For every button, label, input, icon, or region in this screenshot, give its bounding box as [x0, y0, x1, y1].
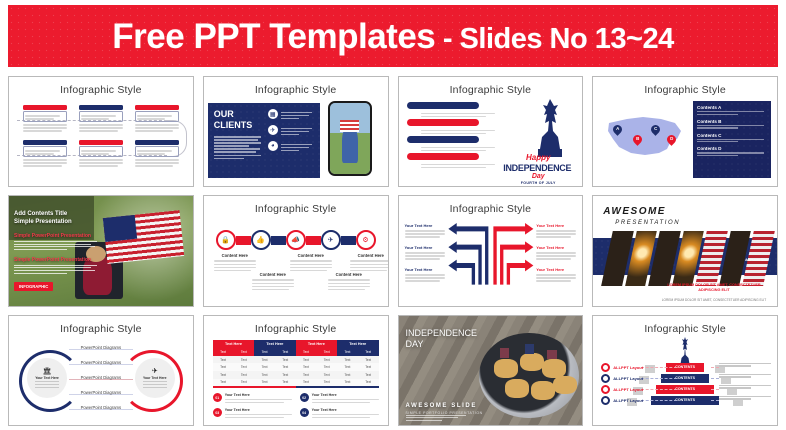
statue-of-liberty-icon — [530, 97, 570, 159]
page-title-main: Free PPT Templates — [112, 17, 435, 56]
legend-ring-icon — [601, 396, 610, 405]
megaphone-icon[interactable]: 📣 — [286, 230, 306, 250]
table-row: TextText TextText TextText TextText — [213, 363, 379, 371]
page-title: Free PPT Templates - Slides No 13~24 — [112, 19, 673, 54]
legend-badge: 01 — [213, 393, 222, 402]
table-row: TextText TextText TextText TextText — [213, 371, 379, 379]
slide-title: Infographic Style — [204, 323, 388, 335]
overlay-heading-line2: Simple Presentation — [14, 218, 100, 226]
independence-text: INDEPENDENCE — [496, 163, 578, 173]
template-gallery-page: Free PPT Templates - Slides No 13~24 Inf… — [0, 0, 786, 430]
photo-slider — [505, 379, 529, 398]
fourth-of-july-text: FOURTH OF JULY — [510, 181, 566, 185]
legend-badge: 03 — [213, 408, 222, 417]
card-body — [23, 111, 67, 122]
card-body — [79, 146, 123, 157]
overlay-heading-line1: Add Contents Title — [14, 210, 100, 218]
photo-title: INDEPENDENCE DAY — [406, 328, 478, 350]
overlay-subheading-1: Simple PowerPoint Presentation — [14, 233, 100, 239]
contents-item: Contents D — [697, 146, 767, 156]
slide-title: Infographic Style — [9, 84, 193, 96]
step-caption: Content Here — [290, 253, 332, 273]
timeline-card[interactable] — [135, 105, 179, 134]
left-circle-core[interactable]: 🏛 Your Text Here — [27, 358, 67, 398]
slide-thumbnail-11[interactable]: INDEPENDENCE DAY AWESOME SLIDE SIMPLE PO… — [398, 315, 584, 426]
pyramid-note — [719, 395, 771, 401]
slide-title: Infographic Style — [399, 203, 583, 215]
card-body — [23, 146, 67, 157]
step-caption: Content Here — [350, 253, 389, 273]
awesome-slide-label: AWESOME SLIDE — [406, 403, 477, 409]
pill-row[interactable] — [407, 119, 479, 126]
contents-item: Contents A — [697, 105, 767, 115]
pyramid-note — [719, 362, 771, 368]
arrow-label-right: Your Text Here — [536, 223, 576, 239]
slide-thumbnail-8[interactable]: AWESOME PRESENTATION AwesomeSlide LOREM … — [592, 195, 778, 306]
slide-thumbnail-12[interactable]: Infographic Style CONTENTS CONTENTS CONT… — [592, 315, 778, 426]
card-body — [135, 111, 179, 122]
rocket-icon: ✈ — [268, 125, 278, 135]
timeline-card[interactable] — [23, 140, 67, 169]
table-header-cell: Text Here — [213, 340, 254, 349]
slide-thumbnail-2[interactable]: Infographic Style OUR CLIENTS ▦ ✈ — [203, 76, 389, 187]
contents-panel: Contents A Contents B Contents C Content… — [693, 101, 771, 178]
page-header-banner: Free PPT Templates - Slides No 13~24 — [8, 5, 778, 67]
flag-pick-icon — [525, 344, 534, 354]
photo-slider — [494, 359, 518, 378]
table-row: TextText TextText TextText TextText — [213, 379, 379, 387]
photo-title-line1: INDEPENDENCE — [406, 328, 478, 338]
arrow-label-left: Your Text Here — [405, 223, 445, 239]
table-header-cell: Text Here — [254, 340, 295, 349]
pyramid-note — [719, 384, 771, 390]
happy-text: Happy — [500, 153, 576, 162]
arrow-label-left: Your Text Here — [405, 267, 445, 283]
watermark: AwesomeSlide — [745, 258, 769, 262]
legend-badge: 02 — [300, 393, 309, 402]
day-text: Day — [508, 173, 568, 180]
legend-ring-icon — [601, 374, 610, 383]
overlay-text-block: Add Contents Title Simple Presentation S… — [14, 210, 100, 293]
gear-icon[interactable]: ⚙ — [356, 230, 376, 250]
pyramid-legend-item[interactable]: ALLPPT Layout — [601, 363, 643, 372]
card-header — [135, 105, 179, 110]
right-circle-core[interactable]: ✈ Your Text Here — [135, 358, 175, 398]
clients-panel: OUR CLIENTS ▦ ✈ ◕ — [208, 103, 320, 178]
table-subheader-row: Text Text Text Text Text Text Text Text — [213, 349, 379, 356]
slide-title: Infographic Style — [204, 203, 388, 215]
page-title-sub: - Slides No 13~24 — [435, 23, 673, 55]
pill-row[interactable] — [407, 153, 479, 160]
slide-thumbnail-4[interactable]: Infographic Style A B C D Contents A Con… — [592, 76, 778, 187]
pyramid-legend-item[interactable]: ALLPPT Layout — [601, 396, 643, 405]
flag-pick-icon — [500, 348, 509, 358]
thumbsup-icon[interactable]: 👍 — [251, 230, 271, 250]
map-pin-b[interactable]: B — [633, 135, 642, 147]
map-pin-c[interactable]: C — [651, 125, 660, 137]
briefcase-icon: ▦ — [268, 109, 278, 119]
caption-grey: LOREM IPSUM DOLOR SIT AMET, CONSECTETUER… — [659, 298, 769, 302]
caption-red: LOREM IPSUM DOLOR SIT AMET, CONSECTETUER… — [659, 283, 769, 293]
step-caption: Content Here — [252, 272, 294, 292]
cursor-icon[interactable]: ✈ — [321, 230, 341, 250]
connector-label: PowerPoint Diagrams — [81, 375, 122, 380]
slide-title: Infographic Style — [399, 84, 583, 96]
lock-icon[interactable]: 🔒 — [216, 230, 236, 250]
table-legend: 01 Your Text Here 02 Your Text Here 03 Y… — [213, 393, 379, 420]
connector-label: PowerPoint Diagrams — [81, 360, 122, 365]
arrow-label-right: Your Text Here — [536, 245, 576, 261]
contents-item: Contents C — [697, 133, 767, 143]
step-caption: Content Here — [328, 272, 370, 292]
slide-thumbnail-5[interactable]: Add Contents Title Simple Presentation S… — [8, 195, 194, 306]
card-header — [23, 105, 67, 110]
presentation-subheading: PRESENTATION — [615, 220, 680, 226]
slide-thumbnail-1[interactable]: Infographic Style — [8, 76, 194, 187]
card-header — [23, 140, 67, 145]
connector-label: PowerPoint Diagrams — [81, 345, 122, 350]
legend-ring-icon — [601, 385, 610, 394]
cursor-icon: ✈ — [152, 367, 158, 375]
card-body — [135, 146, 179, 157]
pyramid-legend-item[interactable]: ALLPPT Layout — [601, 374, 643, 383]
infographic-button[interactable]: INFOGRAPHIC — [14, 282, 53, 291]
slide-title: Infographic Style — [593, 323, 777, 335]
pill-row[interactable] — [407, 136, 479, 143]
statue-of-liberty-icon — [678, 336, 692, 366]
clients-heading: OUR CLIENTS — [214, 109, 264, 131]
contents-item: Contents B — [697, 119, 767, 129]
map-pin-d[interactable]: D — [667, 135, 676, 147]
legend-badge: 04 — [300, 408, 309, 417]
timeline-card[interactable] — [79, 105, 123, 134]
chain-strip: 🔒 👍 📣 ✈ ⚙ — [216, 232, 376, 248]
table-header-cell: Text Here — [296, 340, 337, 349]
chart-icon: ◕ — [268, 141, 278, 151]
table-header-cell: Text Here — [337, 340, 378, 349]
pill-row[interactable] — [407, 102, 479, 109]
legend-item: 02 Your Text Here — [300, 393, 379, 405]
step-caption: Content Here — [214, 253, 256, 273]
overlay-lines — [406, 414, 466, 422]
card-body — [79, 111, 123, 122]
connector-label: PowerPoint Diagrams — [81, 390, 122, 395]
slide-title: Infographic Style — [9, 323, 193, 335]
card-header — [79, 105, 123, 110]
photo-slider — [520, 353, 544, 372]
timeline-card[interactable] — [23, 105, 67, 134]
arrow-label-right: Your Text Here — [536, 267, 576, 283]
table-row: TextText TextText TextText TextText — [213, 356, 379, 364]
table-header-row: Text Here Text Here Text Here Text Here — [213, 340, 379, 349]
legend-item: 01 Your Text Here — [213, 393, 292, 405]
card-header — [79, 140, 123, 145]
photo-title-line2: DAY — [406, 339, 424, 349]
slide-thumbnail-10[interactable]: Infographic Style Text Here Text Here Te… — [203, 315, 389, 426]
bank-icon: 🏛 — [43, 367, 52, 375]
legend-item: 03 Your Text Here — [213, 408, 292, 420]
connector-label: PowerPoint Diagrams — [81, 405, 122, 410]
pyramid-legend-item[interactable]: ALLPPT Layout — [601, 385, 643, 394]
awesome-heading: AWESOME — [603, 206, 666, 217]
card-header — [135, 140, 179, 145]
legend-ring-icon — [601, 363, 610, 372]
pyramid-note — [719, 373, 771, 379]
slide-thumbnail-3[interactable]: Infographic Style Happy INDEPENDENCE Day… — [398, 76, 584, 187]
map-pin-a[interactable]: A — [613, 125, 622, 137]
slide-thumbnail-grid: Infographic Style — [8, 76, 778, 426]
phone-mockup — [328, 101, 372, 176]
slide-thumbnail-7[interactable]: Infographic Style Your Text Here Your Te… — [398, 195, 584, 306]
timeline-card[interactable] — [135, 140, 179, 169]
photo-slider — [531, 381, 555, 400]
slide-thumbnail-9[interactable]: Infographic Style 🏛 Your Text Here ✈ You… — [8, 315, 194, 426]
us-flag-icon — [102, 210, 184, 264]
slide-title: Infographic Style — [204, 84, 388, 96]
flag-pick-icon — [547, 350, 556, 360]
data-table: Text Here Text Here Text Here Text Here … — [213, 340, 379, 389]
timeline-card[interactable] — [79, 140, 123, 169]
slide-title: Infographic Style — [593, 84, 777, 96]
slide-thumbnail-6[interactable]: Infographic Style 🔒 👍 📣 ✈ ⚙ Content Here… — [203, 195, 389, 306]
arrow-label-left: Your Text Here — [405, 245, 445, 261]
legend-item: 04 Your Text Here — [300, 408, 379, 420]
photo-slider — [553, 376, 577, 395]
overlay-subheading-2: Simple PowerPoint Presentation — [14, 257, 100, 263]
